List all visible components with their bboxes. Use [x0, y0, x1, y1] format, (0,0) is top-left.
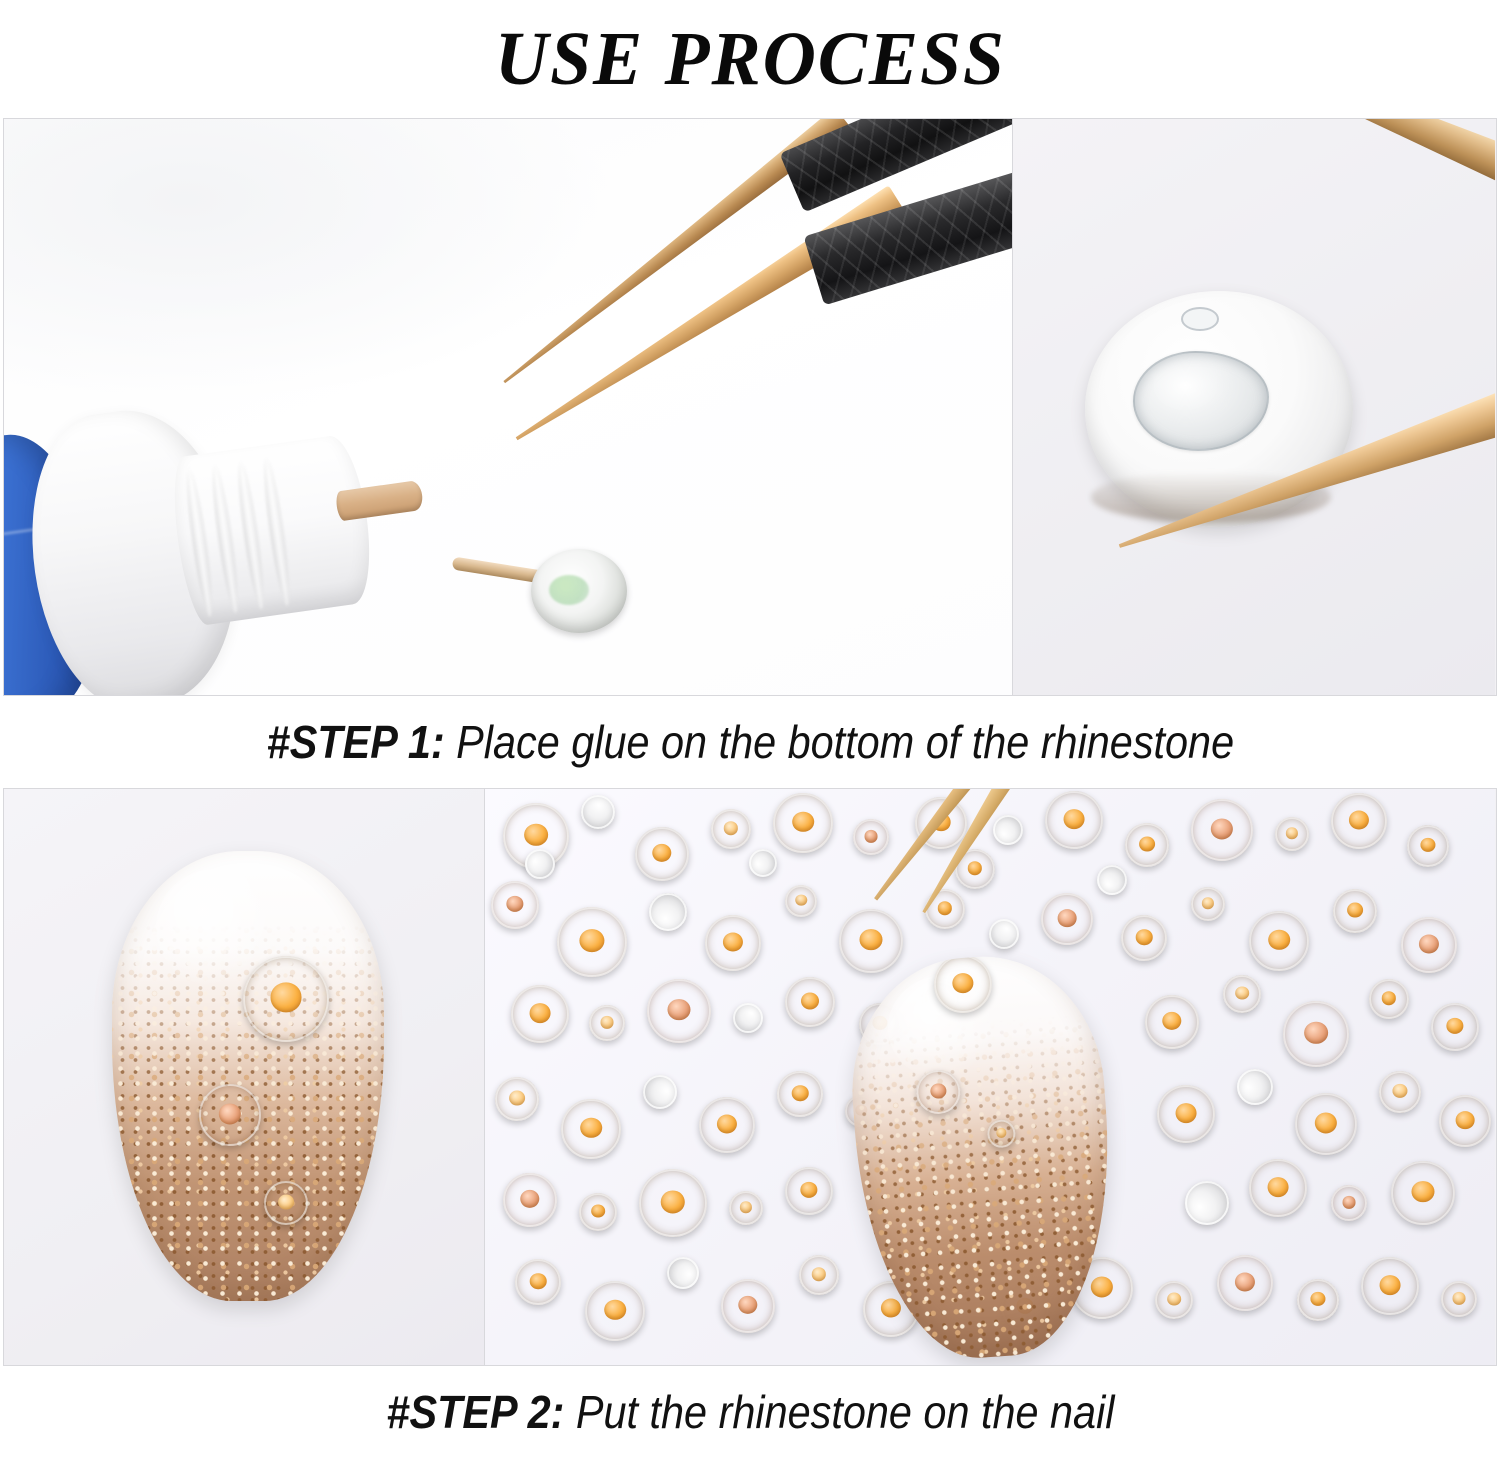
panel-rhinestone-back-closeup	[1012, 119, 1495, 695]
rhinestone	[1217, 1255, 1273, 1311]
rhinestone	[589, 1005, 625, 1041]
gem-rim	[773, 793, 833, 853]
rhinestone-foil-back	[649, 893, 687, 931]
step-1-label: #STEP 1:	[266, 716, 444, 768]
gem-rim	[1391, 1161, 1455, 1225]
gem-rim	[647, 979, 711, 1043]
gem-rim	[511, 985, 569, 1043]
step-2-label: #STEP 2:	[386, 1386, 564, 1438]
gem-rim	[785, 977, 835, 1027]
rhinestone	[579, 1193, 617, 1231]
gem-rim	[561, 1099, 621, 1159]
gem-rim	[264, 1181, 308, 1225]
gem-rim	[557, 907, 627, 977]
gem-rim	[639, 1169, 707, 1237]
panel-rhinestone-scatter	[484, 789, 1495, 1365]
rhinestone	[635, 827, 689, 881]
page-header: USE PROCESS	[0, 0, 1500, 118]
step-2-description: Put the rhinestone on the nail	[564, 1386, 1114, 1438]
rhinestone-foil-back	[667, 1257, 699, 1289]
tweezer-tip-upper	[862, 789, 1133, 909]
nozzle-ring	[259, 456, 294, 606]
rhinestone-foil-back	[749, 849, 777, 877]
gem-rim	[1441, 1281, 1477, 1317]
gem-rim	[243, 956, 329, 1042]
rhinestone	[495, 1077, 539, 1121]
step-1-image-row	[3, 118, 1497, 696]
gem-rim	[1431, 1003, 1479, 1051]
panel-decorated-nail	[4, 789, 484, 1365]
nozzle-ring	[234, 460, 269, 610]
rhinestone	[705, 915, 761, 971]
gem-rim	[495, 1077, 539, 1121]
rhinestone	[1391, 1161, 1455, 1225]
gem-rim	[515, 1259, 561, 1305]
gem-rim	[579, 1193, 617, 1231]
rhinestone	[557, 907, 627, 977]
gem-rim	[733, 1003, 763, 1033]
gem-rim	[799, 1255, 839, 1295]
rhinestone	[1297, 1279, 1339, 1321]
rhinestone	[515, 1259, 561, 1305]
page-title: USE PROCESS	[495, 21, 1006, 97]
gem-rim	[705, 915, 761, 971]
gem-rim	[581, 795, 615, 829]
gem-rim	[635, 827, 689, 881]
rhinestone	[1361, 1257, 1419, 1315]
rhinestone	[777, 1071, 823, 1117]
rhinestone	[639, 1169, 707, 1237]
step-2-block: #STEP 2: Put the rhinestone on the nail	[0, 788, 1500, 1458]
panel-glue-on-rhinestone	[4, 119, 1012, 695]
rhinestone	[511, 985, 569, 1043]
gem-rim	[721, 1279, 775, 1333]
press-on-nail	[112, 851, 384, 1301]
rhinestone-foil-back	[1185, 1181, 1229, 1225]
rhinestone	[1441, 1281, 1477, 1317]
step-1-caption: #STEP 1: Place glue on the bottom of the…	[0, 696, 1500, 788]
gem-rim	[711, 809, 751, 849]
rhinestone	[243, 956, 329, 1042]
rhinestone	[799, 1255, 839, 1295]
rhinestone	[1155, 1281, 1193, 1319]
tweezer-tip-lower	[1111, 380, 1495, 567]
rhinestone	[1439, 1095, 1491, 1147]
rhinestone	[503, 1173, 557, 1227]
gem-rim	[699, 1097, 755, 1153]
step-1-block: #STEP 1: Place glue on the bottom of the…	[0, 118, 1500, 788]
rhinestone	[561, 1099, 621, 1159]
glue-bottle-nozzle	[167, 432, 379, 627]
rhinestone	[729, 1191, 763, 1225]
gem-rim	[503, 1173, 557, 1227]
rhinestone-foil-back	[525, 849, 555, 879]
nozzle-ring	[208, 463, 243, 613]
gem-rim	[785, 1167, 833, 1215]
rhinestone	[721, 1279, 775, 1333]
rhinestone	[711, 809, 751, 849]
gem-rim	[729, 1191, 763, 1225]
tweezer-tip-upper	[1131, 119, 1495, 195]
gold-tweezers	[474, 119, 1012, 629]
gem-rim	[491, 881, 539, 929]
rhinestone	[773, 793, 833, 853]
gem-rim	[667, 1257, 699, 1289]
rhinestone-foil-back	[581, 795, 615, 829]
gem-rim	[643, 1075, 677, 1109]
gem-rim	[1249, 1159, 1307, 1217]
gem-rim	[649, 893, 687, 931]
rhinestone	[785, 1167, 833, 1215]
gem-rim	[785, 885, 817, 917]
rhinestone	[1431, 1003, 1479, 1051]
glue-bottle	[4, 372, 422, 695]
gem-rim	[199, 1084, 261, 1146]
rhinestone	[1331, 1185, 1367, 1221]
gem-rim	[1297, 1279, 1339, 1321]
gem-rim	[1155, 1281, 1193, 1319]
rhinestone-foil-back	[643, 1075, 677, 1109]
gem-rim	[585, 1281, 645, 1341]
step-1-description: Place glue on the bottom of the rhinesto…	[444, 716, 1233, 768]
gem-rim	[589, 1005, 625, 1041]
gem-rim	[1361, 1257, 1419, 1315]
rhinestone-foil-back	[733, 1003, 763, 1033]
rhinestone	[264, 1181, 308, 1225]
rhinestone	[1249, 1159, 1307, 1217]
gem-rim	[525, 849, 555, 879]
step-2-caption: #STEP 2: Put the rhinestone on the nail	[0, 1366, 1500, 1458]
rhinestone	[785, 977, 835, 1027]
gem-rim	[1331, 1185, 1367, 1221]
rhinestone	[647, 979, 711, 1043]
gem-rim	[777, 1071, 823, 1117]
gold-tweezers	[1015, 129, 1495, 649]
gem-rim	[1217, 1255, 1273, 1311]
rhinestone	[491, 881, 539, 929]
gem-rim	[1439, 1095, 1491, 1147]
gold-tweezers	[857, 789, 1417, 1117]
rhinestone	[699, 1097, 755, 1153]
step-2-image-row	[3, 788, 1497, 1366]
rhinestone	[585, 1281, 645, 1341]
gem-rim	[1185, 1181, 1229, 1225]
rhinestone	[785, 885, 817, 917]
gem-rim	[749, 849, 777, 877]
rhinestone	[199, 1084, 261, 1146]
